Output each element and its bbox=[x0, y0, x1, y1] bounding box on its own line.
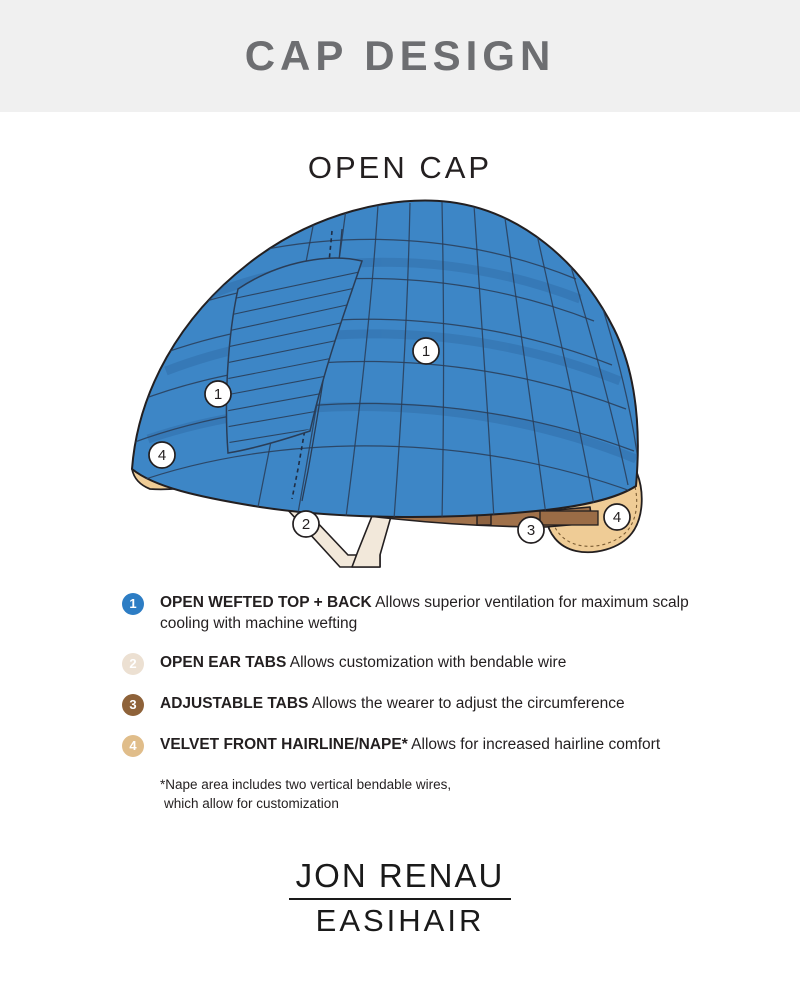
legend-desc-2: Allows customization with bendable wire bbox=[286, 654, 566, 671]
legend-desc-3: Allows the wearer to adjust the circumfe… bbox=[308, 695, 624, 712]
legend-term-2: OPEN EAR TABS bbox=[160, 654, 286, 671]
legend-item-3: 3 ADJUSTABLE TABS Allows the wearer to a… bbox=[0, 693, 800, 716]
brand-name-primary: JON RENAU bbox=[0, 857, 800, 895]
brand-divider bbox=[289, 898, 511, 900]
callout-1-front: 1 bbox=[205, 381, 231, 407]
svg-text:1: 1 bbox=[214, 386, 222, 403]
legend-desc-4: Allows for increased hairline comfort bbox=[408, 736, 660, 753]
legend-text-2: OPEN EAR TABS Allows customization with … bbox=[160, 652, 566, 673]
brand-logo: JON RENAU EASIHAIR bbox=[0, 857, 800, 939]
svg-text:4: 4 bbox=[158, 447, 166, 464]
legend-term-4: VELVET FRONT HAIRLINE/NAPE* bbox=[160, 736, 408, 753]
svg-text:2: 2 bbox=[302, 516, 310, 533]
legend-item-4: 4 VELVET FRONT HAIRLINE/NAPE* Allows for… bbox=[0, 734, 800, 757]
callout-4-nape: 4 bbox=[604, 504, 630, 530]
footnote-line-2: which allow for customization bbox=[160, 794, 800, 813]
legend-text-1: OPEN WEFTED TOP + BACK Allows superior v… bbox=[160, 592, 690, 634]
feature-legend: 1 OPEN WEFTED TOP + BACK Allows superior… bbox=[0, 584, 800, 813]
open-cap-illustration: 1 1 2 3 4 4 bbox=[120, 194, 680, 584]
callout-1-top: 1 bbox=[413, 338, 439, 364]
legend-badge-2: 2 bbox=[122, 653, 144, 675]
legend-item-2: 2 OPEN EAR TABS Allows customization wit… bbox=[0, 652, 800, 675]
footnote-line-1: *Nape area includes two vertical bendabl… bbox=[160, 775, 800, 794]
legend-term-3: ADJUSTABLE TABS bbox=[160, 695, 308, 712]
legend-text-3: ADJUSTABLE TABS Allows the wearer to adj… bbox=[160, 693, 625, 714]
page-title: CAP DESIGN bbox=[245, 32, 556, 80]
cap-diagram-container: 1 1 2 3 4 4 bbox=[0, 194, 800, 584]
callout-4-front-hairline: 4 bbox=[149, 442, 175, 468]
svg-text:3: 3 bbox=[527, 522, 535, 539]
cap-dome bbox=[132, 201, 638, 521]
legend-badge-3: 3 bbox=[122, 694, 144, 716]
legend-term-1: OPEN WEFTED TOP + BACK bbox=[160, 594, 372, 611]
callout-3-adjustable-tab: 3 bbox=[518, 517, 544, 543]
legend-item-1: 1 OPEN WEFTED TOP + BACK Allows superior… bbox=[0, 592, 800, 634]
subtitle-container: OPEN CAP bbox=[0, 150, 800, 186]
svg-text:4: 4 bbox=[613, 509, 621, 526]
legend-badge-1: 1 bbox=[122, 593, 144, 615]
cap-type-subtitle: OPEN CAP bbox=[0, 150, 800, 186]
legend-text-4: VELVET FRONT HAIRLINE/NAPE* Allows for i… bbox=[160, 734, 660, 755]
page-header: CAP DESIGN bbox=[0, 0, 800, 112]
legend-footnote: *Nape area includes two vertical bendabl… bbox=[0, 775, 800, 813]
brand-name-secondary: EASIHAIR bbox=[0, 903, 800, 939]
callout-2-ear-tab: 2 bbox=[293, 511, 319, 537]
legend-badge-4: 4 bbox=[122, 735, 144, 757]
svg-text:1: 1 bbox=[422, 343, 430, 360]
